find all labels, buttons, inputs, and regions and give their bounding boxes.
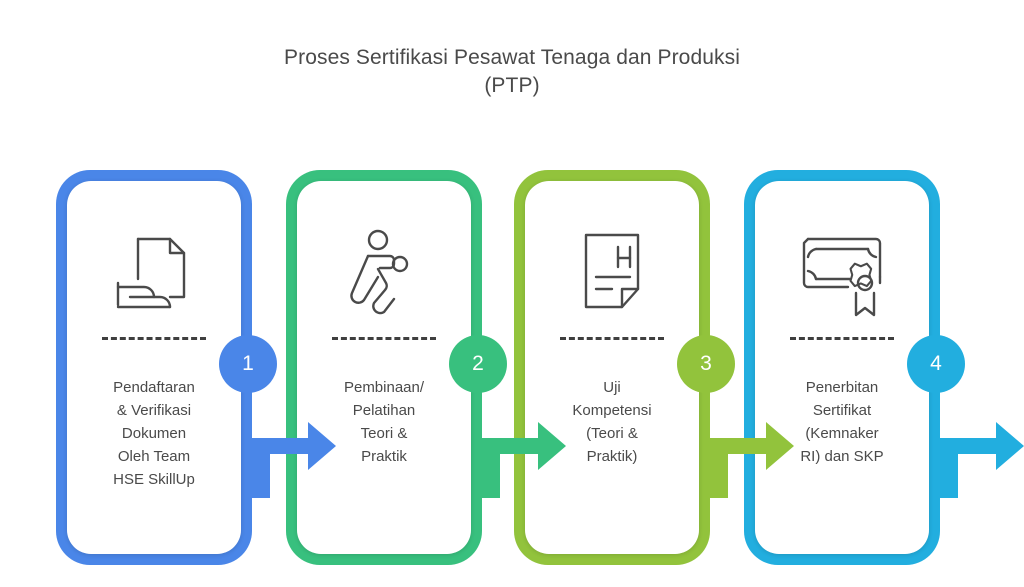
exam-paper-grade-a-icon <box>566 223 658 319</box>
process-step-4[interactable]: Penerbitan Sertifikat (Kemnaker RI) dan … <box>744 170 940 565</box>
process-step-1[interactable]: Pendaftaran & Verifikasi Dokumen Oleh Te… <box>56 170 252 565</box>
step-1-card: Pendaftaran & Verifikasi Dokumen Oleh Te… <box>67 181 241 554</box>
title-line-1: Proses Sertifikasi Pesawat Tenaga dan Pr… <box>0 44 1024 72</box>
certificate-award-icon <box>796 223 888 319</box>
page-title: Proses Sertifikasi Pesawat Tenaga dan Pr… <box>0 44 1024 100</box>
connector-1-to-2 <box>216 408 336 498</box>
step-4-number-badge: 4 <box>907 335 965 393</box>
step-3-divider <box>560 337 664 340</box>
step-2-card: Pembinaan/ Pelatihan Teori & Praktik <box>297 181 471 554</box>
step-1-number-badge: 1 <box>219 335 277 393</box>
step-4-card: Penerbitan Sertifikat (Kemnaker RI) dan … <box>755 181 929 554</box>
document-signature-icon <box>108 223 200 319</box>
step-2-number-badge: 2 <box>449 335 507 393</box>
step-3-number-badge: 3 <box>677 335 735 393</box>
step-2-divider <box>332 337 436 340</box>
connector-4-out <box>904 408 1024 498</box>
step-1-label: Pendaftaran & Verifikasi Dokumen Oleh Te… <box>74 376 234 491</box>
step-4-divider <box>790 337 894 340</box>
title-line-2: (PTP) <box>0 72 1024 100</box>
person-training-icon <box>338 223 430 319</box>
process-flow: Pendaftaran & Verifikasi Dokumen Oleh Te… <box>0 170 1024 570</box>
connector-3-to-4 <box>674 408 794 498</box>
connector-2-to-3 <box>446 408 566 498</box>
process-step-3[interactable]: Uji Kompetensi (Teori & Praktik) 3 <box>514 170 710 565</box>
step-3-card: Uji Kompetensi (Teori & Praktik) <box>525 181 699 554</box>
process-step-2[interactable]: Pembinaan/ Pelatihan Teori & Praktik 2 <box>286 170 482 565</box>
step-1-divider <box>102 337 206 340</box>
